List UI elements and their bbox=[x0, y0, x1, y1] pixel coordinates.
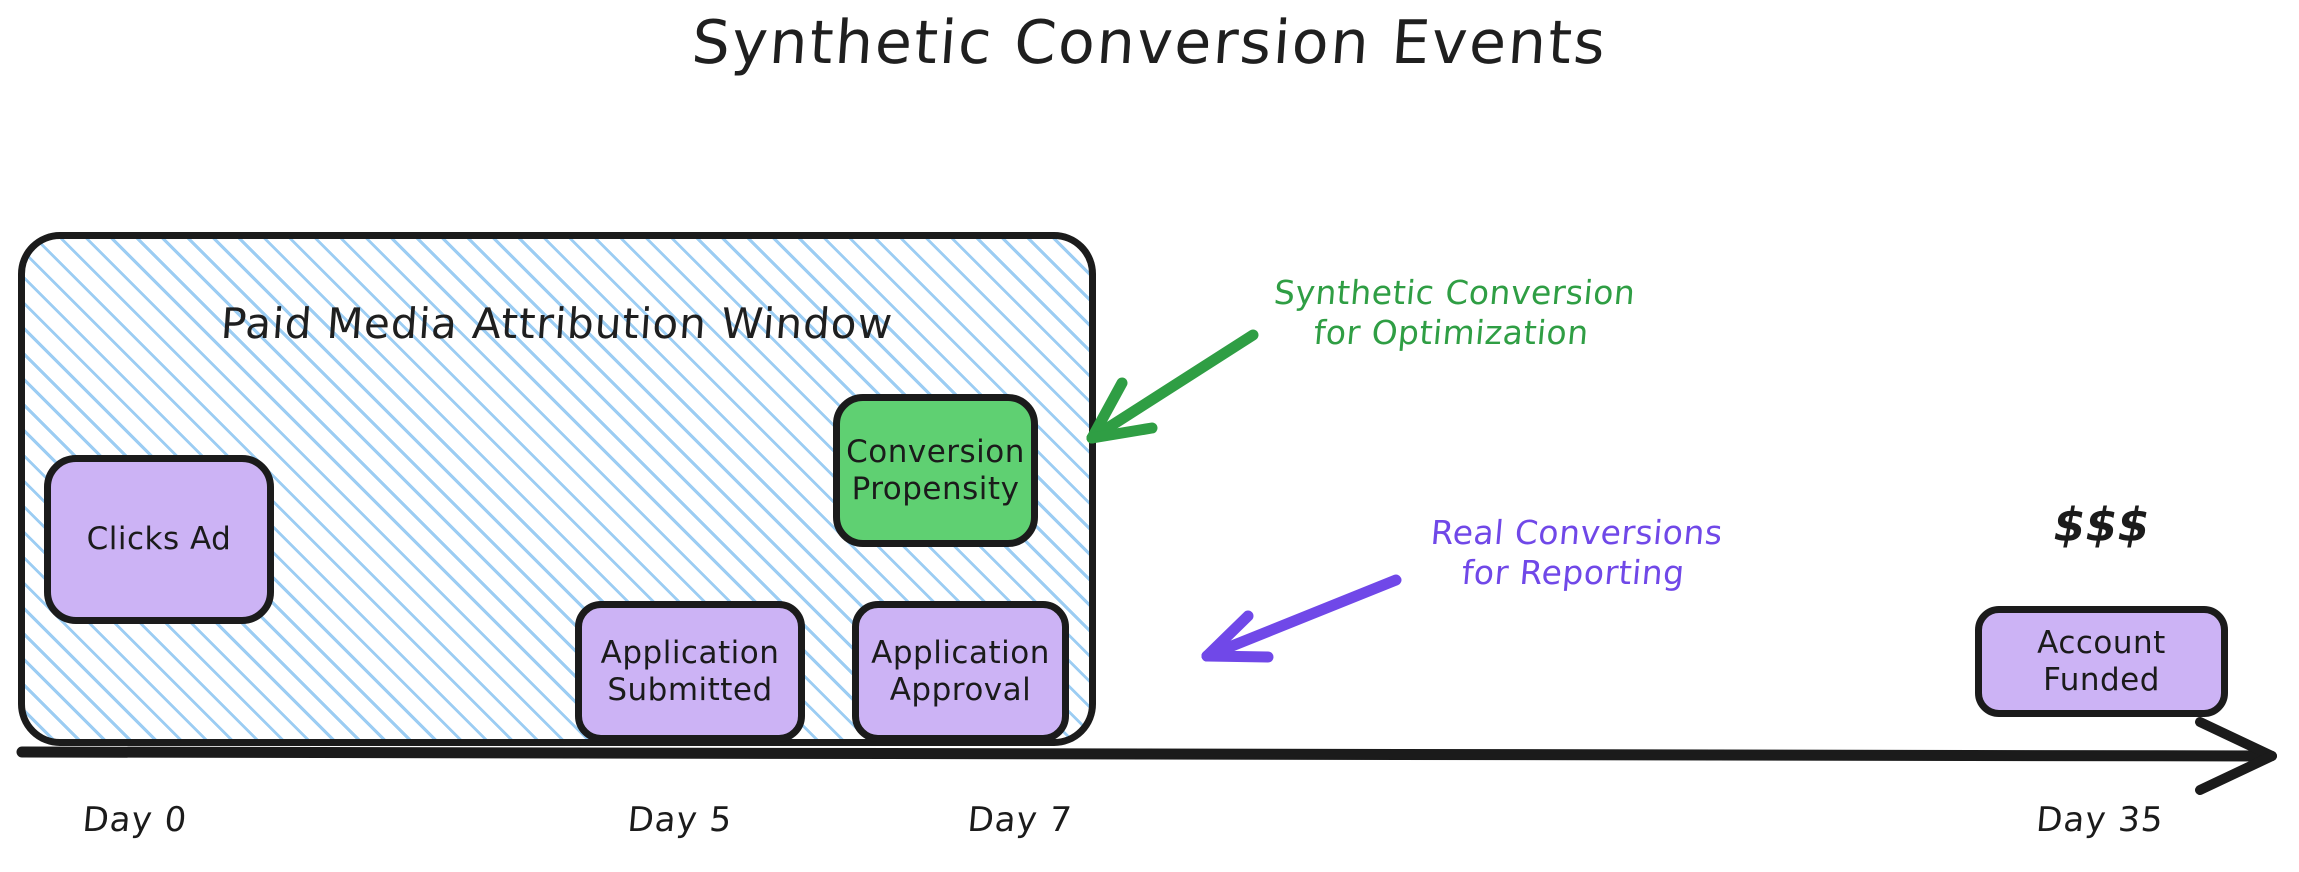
attribution-window-label: Paid Media Attribution Window bbox=[23, 299, 1090, 348]
timeline-label-day-7: Day 7 bbox=[918, 800, 1121, 840]
diagram-canvas: Synthetic Conversion Events Paid Media A… bbox=[0, 0, 2299, 872]
event-box-conversion-propensity: ConversionPropensity bbox=[833, 394, 1038, 547]
money-marker: $$$ bbox=[1975, 498, 2228, 552]
event-box-application-approval: ApplicationApproval bbox=[852, 601, 1069, 742]
timeline-label-day-35: Day 35 bbox=[1988, 800, 2211, 840]
page-title: Synthetic Conversion Events bbox=[0, 8, 2299, 78]
timeline-label-day-0: Day 0 bbox=[33, 800, 236, 840]
arrow-real-conversions bbox=[1207, 580, 1396, 657]
annotation-synthetic-conversion: Synthetic Conversionfor Optimization bbox=[1239, 273, 1666, 354]
arrow-synthetic-conversion bbox=[1092, 335, 1253, 438]
event-box-clicks-ad: Clicks Ad bbox=[44, 455, 274, 624]
event-box-application-submitted: ApplicationSubmitted bbox=[575, 601, 805, 742]
annotation-real-conversions: Real Conversionsfor Reporting bbox=[1391, 513, 1758, 594]
timeline-label-day-5: Day 5 bbox=[578, 800, 781, 840]
event-box-account-funded: AccountFunded bbox=[1975, 606, 2228, 717]
